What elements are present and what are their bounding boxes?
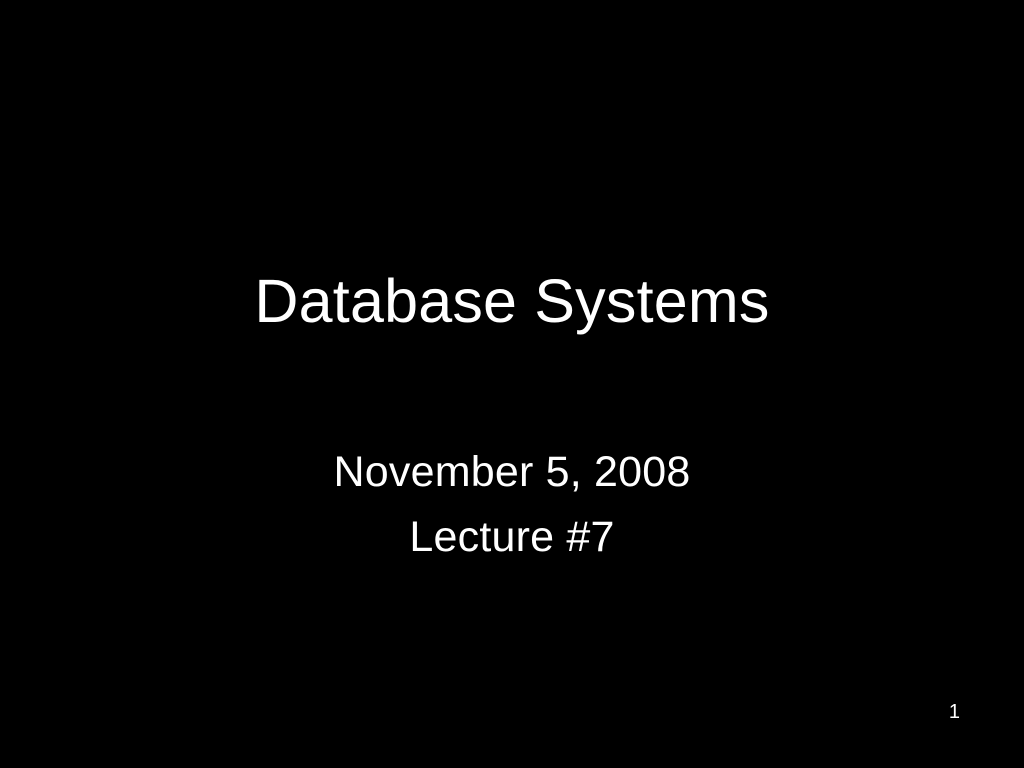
subtitle-line-date: November 5, 2008	[0, 440, 1024, 505]
page-number: 1	[949, 702, 960, 722]
presentation-slide: Database Systems November 5, 2008 Lectur…	[0, 0, 1024, 768]
page-title: Database Systems	[0, 271, 1024, 332]
subtitle-placeholder: November 5, 2008 Lecture #7	[0, 440, 1024, 571]
title-placeholder: Database Systems	[0, 271, 1024, 332]
subtitle-line-lecture: Lecture #7	[0, 505, 1024, 570]
